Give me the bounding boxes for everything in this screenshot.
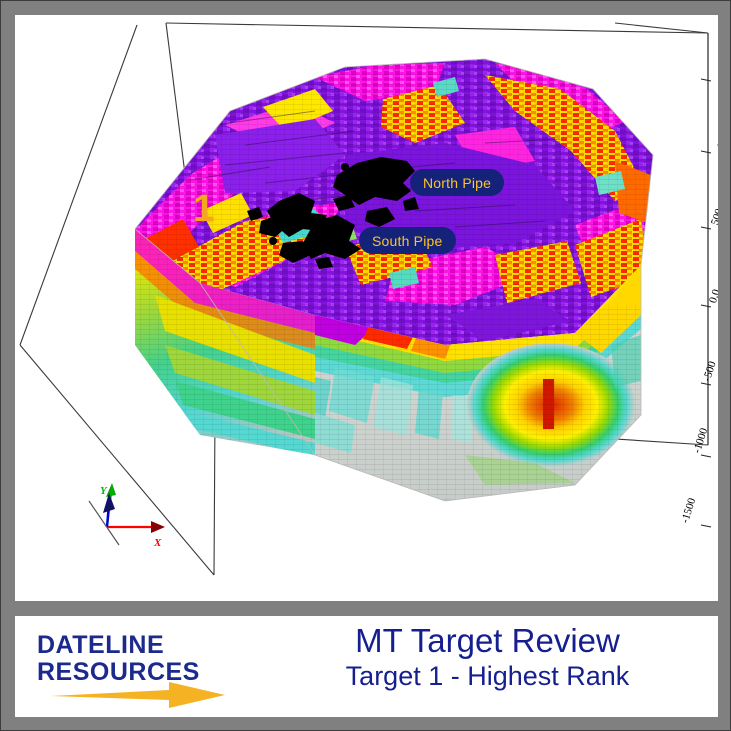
footer-bar: DATELINE RESOURCES MT Target Review Targ… <box>15 616 718 717</box>
page-title: MT Target Review <box>265 622 710 660</box>
brand-arrow-icon <box>49 680 227 710</box>
x-axis-label: X <box>154 537 161 549</box>
3d-model-render <box>15 15 718 601</box>
annotation-north-pipe-label: North Pipe <box>423 175 491 191</box>
target-number-label: 1 <box>193 190 214 228</box>
y-arrow-head <box>106 483 116 497</box>
x-arrow-head <box>151 521 165 533</box>
company-logo: DATELINE RESOURCES <box>37 632 267 686</box>
title-block: MT Target Review Target 1 - Highest Rank <box>265 622 710 692</box>
slide-page: 1500 1000 500 0.0 -500 -1000 -1500 Z X Y… <box>0 0 731 731</box>
y-axis-label: Y <box>100 485 107 497</box>
triad-guide <box>89 501 119 545</box>
annotation-south-pipe[interactable]: South Pipe <box>359 227 456 254</box>
page-subtitle: Target 1 - Highest Rank <box>265 660 710 692</box>
annotation-north-pipe[interactable]: North Pipe <box>410 169 504 196</box>
annotation-south-pipe-label: South Pipe <box>372 233 443 249</box>
3d-model-viewport[interactable]: 1500 1000 500 0.0 -500 -1000 -1500 Z X Y… <box>15 15 718 601</box>
brand-line-1: DATELINE <box>37 632 267 659</box>
block-model-solid <box>115 45 675 515</box>
